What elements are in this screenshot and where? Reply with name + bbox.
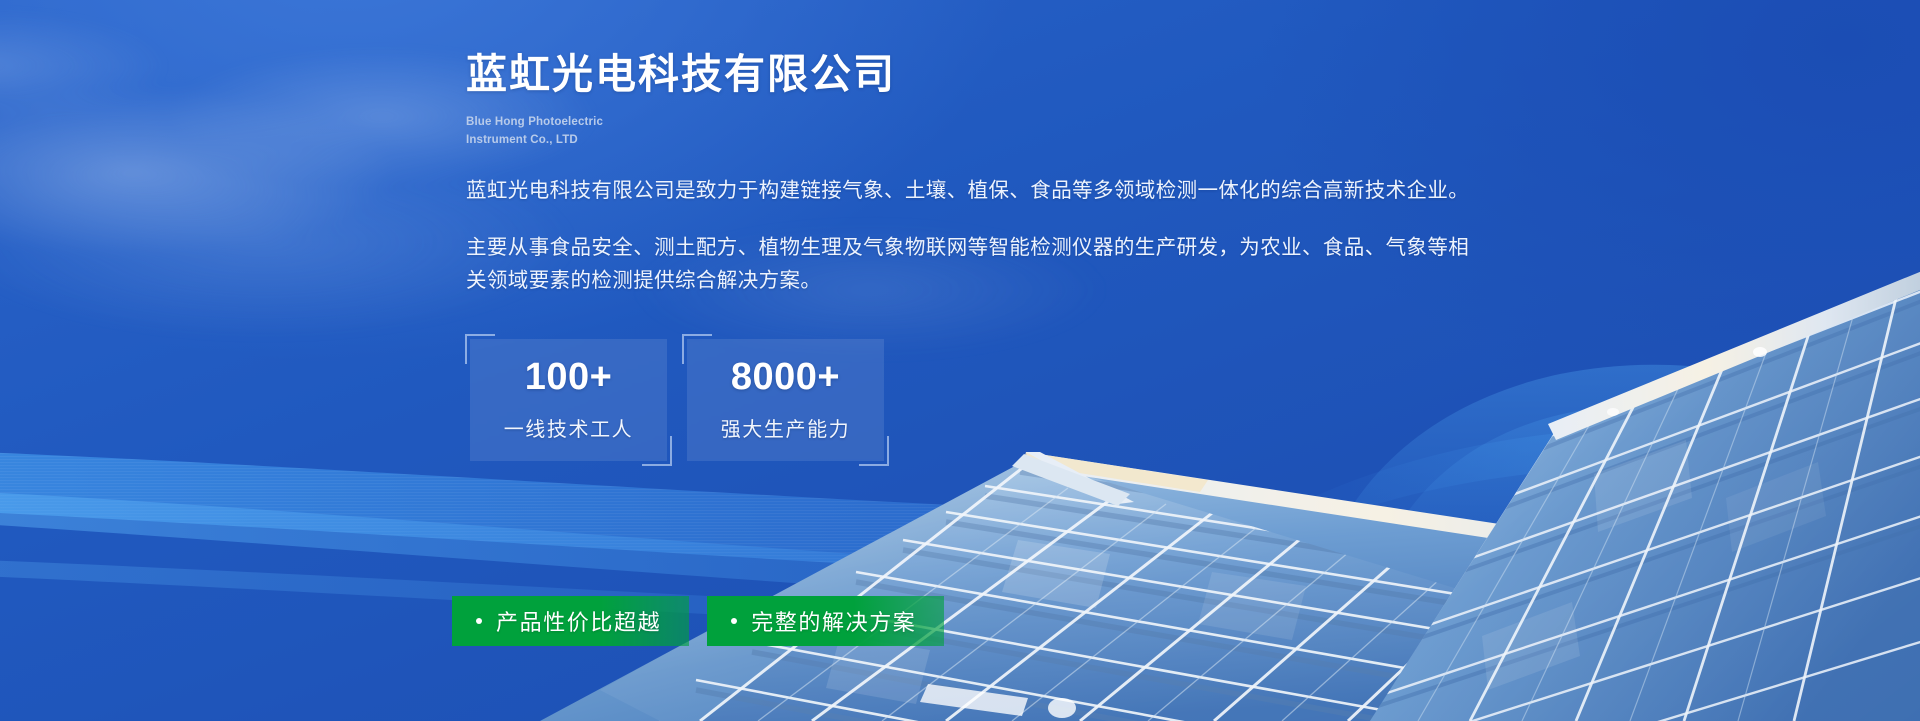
company-name-english-line1: Blue Hong Photoelectric: [466, 113, 1486, 131]
feature-tag-solution: 完整的解决方案: [707, 596, 944, 646]
feature-tag-label: 完整的解决方案: [751, 605, 916, 637]
feature-tag-label: 产品性价比超越: [496, 605, 661, 637]
corner-bracket-bottom-right-icon: [642, 436, 672, 466]
feature-tag-value: 产品性价比超越: [452, 596, 689, 646]
corner-bracket-bottom-right-icon: [859, 436, 889, 466]
stats-group: 100+ 一线技术工人 8000+ 强大生产能力: [466, 297, 1486, 461]
stat-card-workers: 100+ 一线技术工人: [470, 339, 667, 461]
intro-paragraph-2: 主要从事食品安全、测土配方、植物生理及气象物联网等智能检测仪器的生产研发，为农业…: [466, 231, 1486, 297]
corner-bracket-top-left-icon: [465, 334, 495, 364]
dot-bullet-icon: [731, 618, 737, 624]
stat-card-capacity: 8000+ 强大生产能力: [687, 339, 884, 461]
company-hero-banner: 蓝虹光电科技有限公司 Blue Hong Photoelectric Instr…: [0, 0, 1920, 721]
page-title: 蓝虹光电科技有限公司: [466, 0, 1486, 100]
company-name-english: Blue Hong Photoelectric Instrument Co., …: [466, 100, 1486, 149]
dot-bullet-icon: [476, 618, 482, 624]
corner-bracket-top-left-icon: [682, 334, 712, 364]
banner-content: 蓝虹光电科技有限公司 Blue Hong Photoelectric Instr…: [466, 0, 1486, 461]
stat-label: 强大生产能力: [721, 413, 851, 442]
stat-value: 100+: [525, 358, 613, 396]
company-name-english-line2: Instrument Co., LTD: [466, 131, 1486, 149]
company-intro: 蓝虹光电科技有限公司是致力于构建链接气象、土壤、植保、食品等多领域检测一体化的综…: [466, 150, 1486, 298]
stat-value: 8000+: [731, 358, 840, 396]
intro-paragraph-1: 蓝虹光电科技有限公司是致力于构建链接气象、土壤、植保、食品等多领域检测一体化的综…: [466, 174, 1486, 207]
feature-tag-group: 产品性价比超越 完整的解决方案: [452, 596, 944, 646]
stat-label: 一线技术工人: [504, 413, 634, 442]
